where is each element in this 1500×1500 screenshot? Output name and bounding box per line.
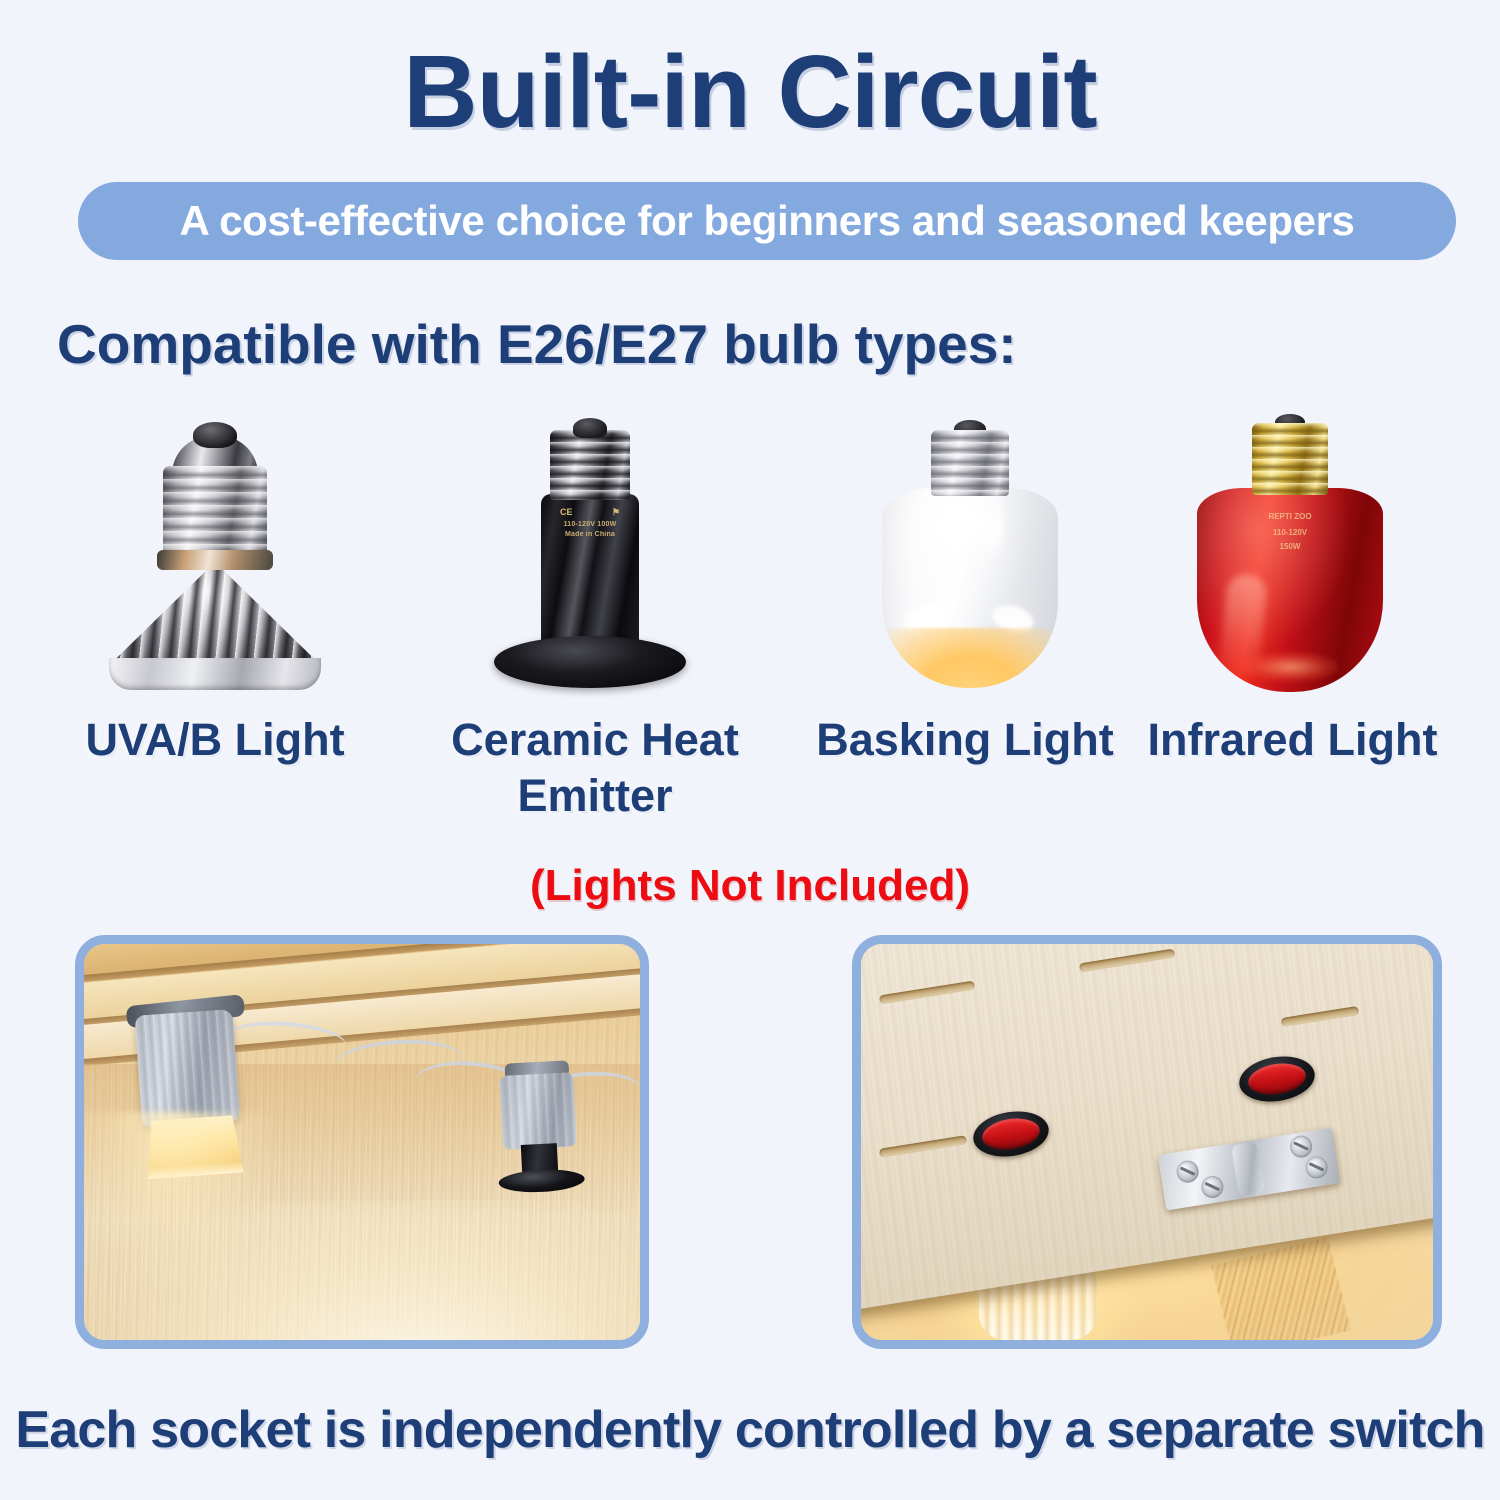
hinge-knuckle-icon <box>1231 1141 1265 1196</box>
screw-thread-ridges-icon <box>1252 423 1328 495</box>
ceramic-heat-emitter-icon: CE ⚑ 110-120V 100W Made in China <box>470 400 710 700</box>
screw-thread-ridges-icon <box>550 430 630 500</box>
bulb-label-ceramic: Ceramic Heat Emitter <box>410 712 780 824</box>
page-title: Built-in Circuit <box>0 36 1500 148</box>
compatibility-heading: Compatible with E26/E27 bulb types: <box>57 311 1017 377</box>
hinge-screw-4-icon <box>1304 1155 1329 1180</box>
footer-caption: Each socket is independently controlled … <box>0 1399 1500 1461</box>
frosted-glass-envelope-icon <box>882 488 1058 688</box>
hinge-screw-3-icon <box>1200 1174 1225 1199</box>
photo-top-panel-with-red-rocker-switches <box>852 935 1442 1349</box>
e27-screw-base-icon <box>550 430 630 500</box>
socket-housing-icon <box>499 1072 577 1150</box>
infrared-print-line-2: 110-120V <box>1235 528 1345 538</box>
bulb-collar-icon <box>157 550 273 570</box>
red-glass-envelope-icon: REPTI ZOO 110-120V 150W <box>1197 488 1383 692</box>
waste-bin-mark-icon: ⚑ <box>612 507 620 518</box>
bulb-label-basking: Basking Light <box>800 712 1130 768</box>
hinge-screw-2-icon <box>1289 1134 1314 1159</box>
emitter-ceramic-disc-icon <box>494 636 686 688</box>
socket-housing-icon <box>135 1009 241 1128</box>
bulb-type-row: CE ⚑ 110-120V 100W Made in China <box>0 400 1500 700</box>
bulb-label-infrared: Infrared Light <box>1120 712 1465 768</box>
e27-screw-base-icon <box>931 430 1009 496</box>
emitter-print-line-2: Made in China <box>548 530 632 539</box>
screw-thread-ridges-icon <box>931 430 1009 496</box>
screw-thread-ridges-icon <box>163 466 267 556</box>
bulb-label-uva-b: UVA/B Light <box>30 712 400 768</box>
ce-certification-marks-icon: CE ⚑ <box>560 506 620 518</box>
bulb-item-infrared-light: REPTI ZOO 110-120V 150W <box>1120 400 1460 700</box>
warm-light-glow-icon <box>882 628 1058 688</box>
emitter-print-line-1: 110-120V 100W <box>548 520 632 529</box>
reflector-glass-rim-icon <box>109 658 321 690</box>
hinge-screw-1-icon <box>1175 1159 1200 1184</box>
second-socket-with-ceramic-emitter <box>493 1072 585 1188</box>
emitter-body-icon: CE ⚑ 110-120V 100W Made in China <box>541 494 639 646</box>
infrared-print-line-1: REPTI ZOO <box>1235 512 1345 522</box>
basking-bulb-icon <box>850 400 1090 700</box>
lights-not-included-notice: (Lights Not Included) <box>0 858 1500 914</box>
bulb-item-uva-b <box>45 400 385 700</box>
bulb-contact-tip-icon <box>573 418 607 438</box>
e27-brass-screw-base-icon <box>1252 423 1328 495</box>
subtitle-banner: A cost-effective choice for beginners an… <box>78 182 1456 260</box>
subtitle-text: A cost-effective choice for beginners an… <box>180 197 1355 245</box>
uva-b-reflector-bulb-icon <box>95 400 335 700</box>
filament-glow-icon <box>1242 652 1338 682</box>
bulb-contact-tip-icon <box>193 422 237 448</box>
e27-screw-base-icon <box>163 466 267 556</box>
photo-sockets-mounted-under-wood-ceiling <box>75 935 649 1349</box>
infrared-print-line-3: 150W <box>1235 542 1345 552</box>
photo-right-content <box>861 944 1433 1340</box>
infrared-bulb-icon: REPTI ZOO 110-120V 150W <box>1170 400 1410 700</box>
bulb-label-row: UVA/B Light Ceramic Heat Emitter Basking… <box>0 712 1500 842</box>
bulb-item-basking-light <box>800 400 1140 700</box>
floor-light-glow <box>84 1200 640 1340</box>
photo-left-content <box>84 944 640 1340</box>
bulb-item-ceramic-heat-emitter: CE ⚑ 110-120V 100W Made in China <box>420 400 760 700</box>
ce-mark-label: CE <box>560 507 573 517</box>
